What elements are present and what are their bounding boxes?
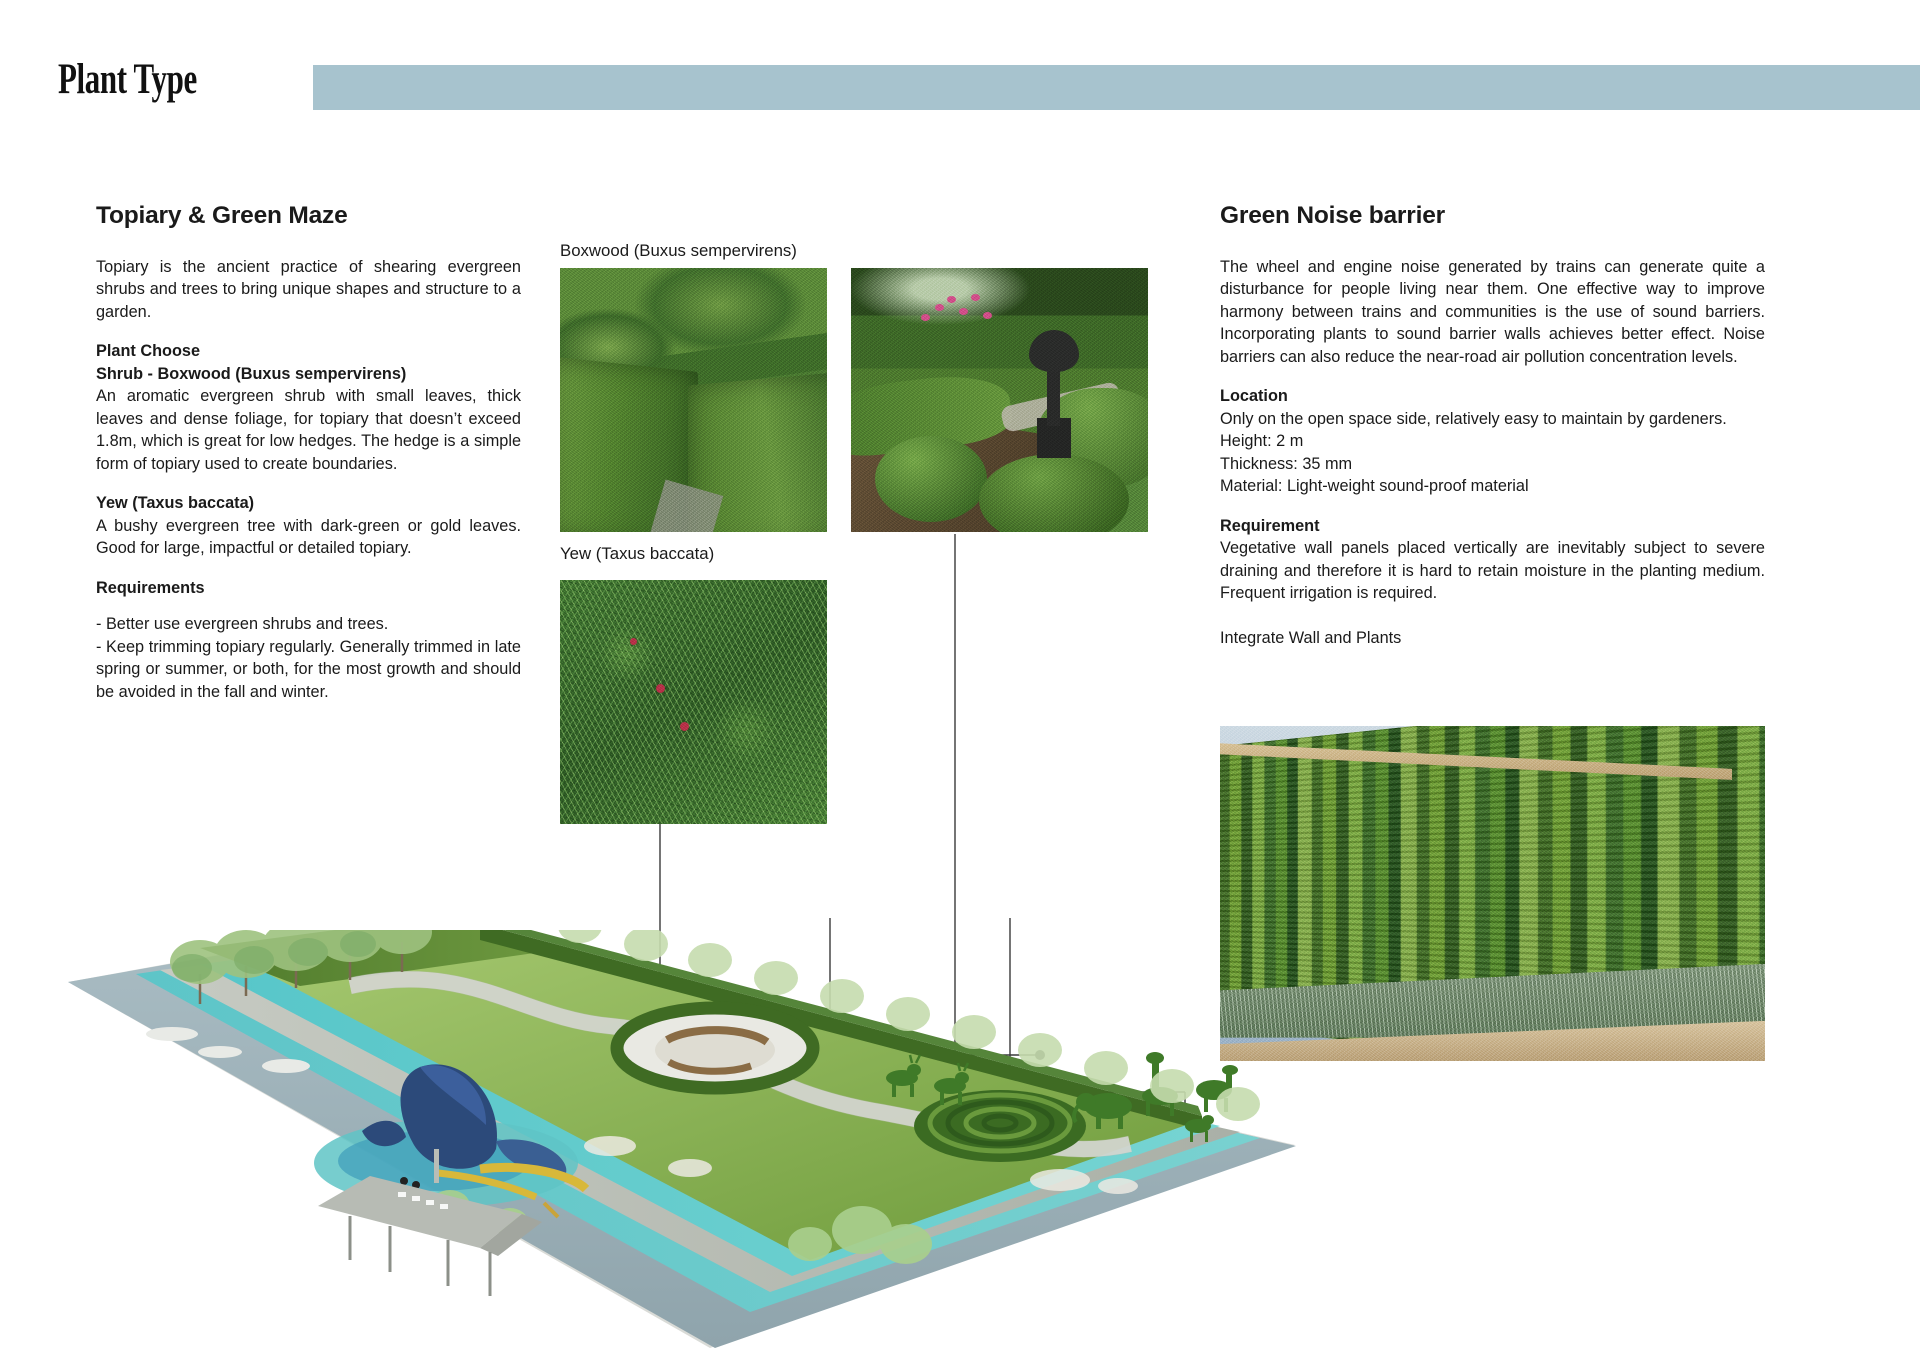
noise-barrier-column: Green Noise barrier The wheel and engine… (1220, 202, 1765, 666)
requirement-text: Vegetative wall panels placed vertically… (1220, 537, 1765, 604)
requirement-label: Requirement (1220, 515, 1765, 537)
boxwood-ball-left (875, 436, 987, 522)
height-spec: Height: 2 m (1220, 430, 1765, 452)
plant-choose-label: Plant Choose (96, 340, 521, 362)
yew-berry (630, 638, 637, 645)
shrub-boxwood-text: An aromatic evergreen shrub with small l… (96, 385, 521, 475)
yew-label: Yew (Taxus baccata) (96, 492, 521, 514)
header-accent-bar (313, 65, 1920, 110)
yew-berry (680, 722, 689, 731)
location-text: Only on the open space side, relatively … (1220, 408, 1765, 430)
material-spec: Material: Light-weight sound-proof mater… (1220, 475, 1765, 497)
requirement-item-2: - Keep trimming topiary regularly. Gener… (96, 636, 521, 703)
boxwood-hedge-photo (560, 268, 827, 532)
thickness-spec: Thickness: 35 mm (1220, 453, 1765, 475)
urn-pedestal (1047, 364, 1060, 426)
topiary-column: Topiary & Green Maze Topiary is the anci… (96, 202, 521, 720)
urn-bowl (1029, 330, 1079, 372)
yew-caption: Yew (Taxus baccata) (560, 544, 714, 564)
boxwood-caption: Boxwood (Buxus sempervirens) (560, 241, 797, 261)
yew-foliage-photo (560, 580, 827, 824)
topiary-intro-text: Topiary is the ancient practice of shear… (96, 256, 521, 323)
yew-text: A bushy evergreen tree with dark-green o… (96, 515, 521, 560)
yew-berry (656, 684, 665, 693)
shrub-boxwood-label: Shrub - Boxwood (Buxus sempervirens) (96, 363, 521, 385)
needle-texture (560, 580, 827, 824)
page-title: Plant Type (58, 55, 197, 104)
noise-barrier-heading: Green Noise barrier (1220, 202, 1765, 230)
requirements-label: Requirements (96, 577, 521, 599)
green-wall-photo (1220, 726, 1765, 1061)
location-label: Location (1220, 385, 1765, 407)
green-spiral-maze (914, 1090, 1086, 1162)
requirement-item-1: - Better use evergreen shrubs and trees. (96, 613, 521, 635)
site-plan-axonometric (50, 930, 1300, 1350)
boxwood-topiary-garden-photo (851, 268, 1148, 532)
circular-hedge-ring (617, 1008, 813, 1088)
topiary-heading: Topiary & Green Maze (96, 202, 521, 230)
integrate-wall-caption: Integrate Wall and Plants (1220, 627, 1765, 649)
noise-barrier-intro-text: The wheel and engine noise generated by … (1220, 256, 1765, 368)
